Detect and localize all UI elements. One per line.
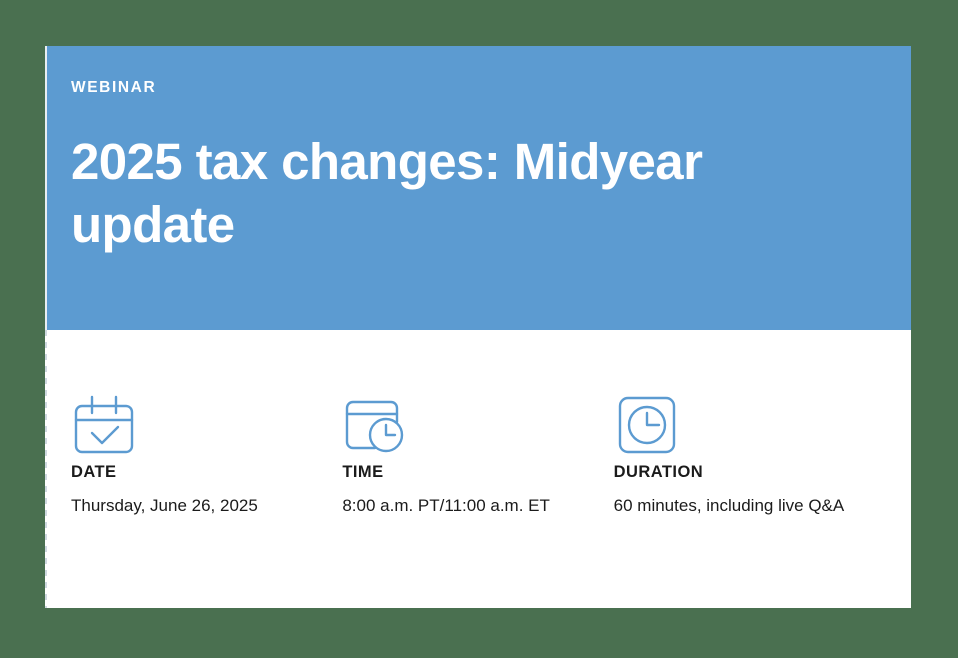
webinar-card-header: WEBINAR 2025 tax changes: Midyear update: [45, 46, 911, 330]
detail-item-time: TIME 8:00 a.m. PT/11:00 a.m. ET: [342, 392, 613, 519]
detail-label-date: DATE: [71, 464, 324, 481]
detail-item-date: DATE Thursday, June 26, 2025: [71, 392, 342, 519]
webinar-card: WEBINAR 2025 tax changes: Midyear update…: [45, 46, 911, 608]
detail-value-duration: 60 minutes, including live Q&A: [614, 492, 864, 520]
detail-label-duration: DURATION: [614, 464, 867, 481]
webinar-details: DATE Thursday, June 26, 2025 TIME 8:00 a…: [71, 392, 885, 519]
detail-value-date: Thursday, June 26, 2025: [71, 492, 321, 520]
webinar-card-body: DATE Thursday, June 26, 2025 TIME 8:00 a…: [45, 330, 911, 608]
page-title: 2025 tax changes: Midyear update: [71, 130, 811, 256]
eyebrow-label: WEBINAR: [71, 80, 851, 96]
card-left-perforation: [45, 330, 47, 608]
calendar-check-icon: [71, 392, 324, 464]
card-left-edge-rule: [45, 46, 47, 330]
detail-label-time: TIME: [342, 464, 595, 481]
detail-item-duration: DURATION 60 minutes, including live Q&A: [614, 392, 885, 519]
calendar-clock-icon: [342, 392, 595, 464]
clock-square-icon: [614, 392, 867, 464]
detail-value-time: 8:00 a.m. PT/11:00 a.m. ET: [342, 492, 592, 520]
